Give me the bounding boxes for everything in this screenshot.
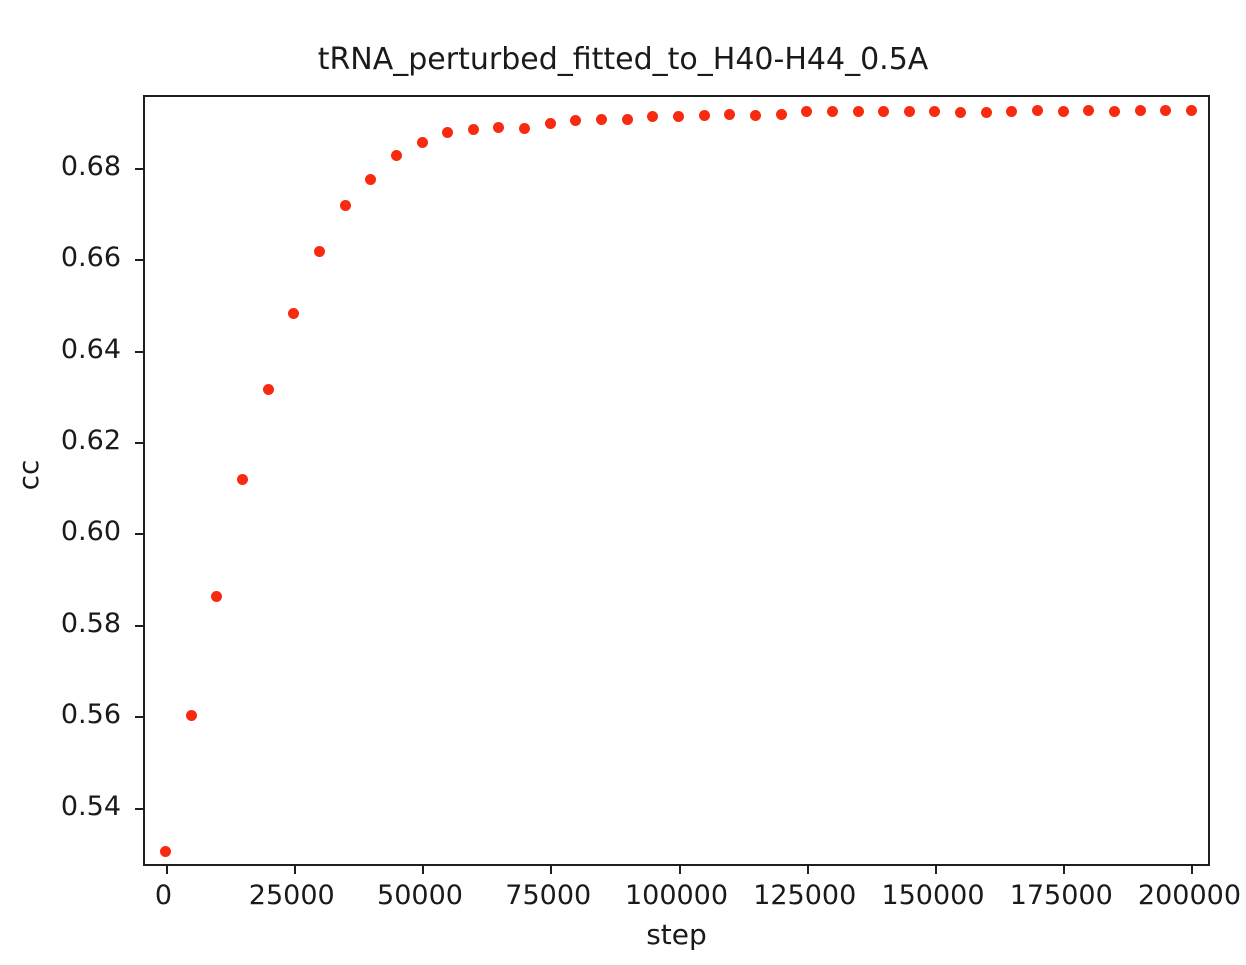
data-point (596, 114, 607, 125)
y-tick-label: 0.54 (0, 793, 121, 820)
data-point (1135, 105, 1146, 116)
data-point (1032, 105, 1043, 116)
y-tick-mark (135, 442, 145, 444)
y-tick-label: 0.68 (0, 153, 121, 180)
y-tick-mark (135, 716, 145, 718)
data-point (442, 127, 453, 138)
data-point (622, 114, 633, 125)
x-tick-mark (807, 864, 809, 874)
data-point (801, 106, 812, 117)
data-point (365, 174, 376, 185)
y-tick-label: 0.56 (0, 701, 121, 728)
data-point (878, 106, 889, 117)
plot-area (143, 95, 1210, 866)
data-point (673, 111, 684, 122)
data-point (1083, 105, 1094, 116)
x-tick-mark (422, 864, 424, 874)
x-tick-label: 25000 (249, 882, 335, 909)
data-point (340, 200, 351, 211)
data-point (1006, 106, 1017, 117)
data-point (724, 109, 735, 120)
x-tick-label: 50000 (377, 882, 463, 909)
data-point (186, 710, 197, 721)
y-tick-mark (135, 625, 145, 627)
data-point (468, 124, 479, 135)
x-tick-label: 150000 (881, 882, 984, 909)
x-tick-mark (294, 864, 296, 874)
x-tick-mark (1063, 864, 1065, 874)
y-axis-label-container: cc (0, 0, 70, 965)
x-tick-label: 75000 (505, 882, 591, 909)
x-tick-mark (1191, 864, 1193, 874)
y-tick-mark (135, 808, 145, 810)
x-tick-label: 125000 (753, 882, 856, 909)
y-tick-label: 0.64 (0, 336, 121, 363)
y-tick-label: 0.66 (0, 244, 121, 271)
x-tick-mark (935, 864, 937, 874)
y-tick-mark (135, 168, 145, 170)
data-point (929, 106, 940, 117)
x-tick-mark (679, 864, 681, 874)
x-axis-label: step (143, 920, 1210, 950)
x-tick-label: 0 (155, 882, 172, 909)
data-point (314, 246, 325, 257)
x-tick-label: 175000 (1010, 882, 1113, 909)
data-point (493, 122, 504, 133)
data-point (776, 109, 787, 120)
x-tick-mark (550, 864, 552, 874)
data-point (391, 150, 402, 161)
x-tick-mark (166, 864, 168, 874)
y-tick-label: 0.60 (0, 518, 121, 545)
data-point (1109, 106, 1120, 117)
data-point (263, 384, 274, 395)
y-tick-mark (135, 533, 145, 535)
data-point (519, 123, 530, 134)
y-tick-mark (135, 259, 145, 261)
data-point (237, 474, 248, 485)
data-point (750, 110, 761, 121)
data-point (570, 115, 581, 126)
y-tick-mark (135, 351, 145, 353)
data-point (853, 106, 864, 117)
data-point (699, 110, 710, 121)
data-point (647, 111, 658, 122)
y-tick-label: 0.58 (0, 610, 121, 637)
figure-canvas: tRNA_perturbed_fitted_to_H40-H44_0.5A cc… (0, 0, 1246, 965)
data-point (827, 106, 838, 117)
y-tick-label: 0.62 (0, 427, 121, 454)
scatter-series-cc (145, 97, 1208, 864)
data-point (955, 107, 966, 118)
data-point (211, 591, 222, 602)
x-tick-label: 100000 (625, 882, 728, 909)
chart-title: tRNA_perturbed_fitted_to_H40-H44_0.5A (0, 42, 1246, 78)
data-point (904, 106, 915, 117)
data-point (417, 137, 428, 148)
data-point (1160, 105, 1171, 116)
data-point (545, 118, 556, 129)
data-point (981, 107, 992, 118)
data-point (1186, 105, 1197, 116)
x-tick-label: 200000 (1138, 882, 1241, 909)
data-point (288, 308, 299, 319)
data-point (160, 846, 171, 857)
data-point (1058, 106, 1069, 117)
